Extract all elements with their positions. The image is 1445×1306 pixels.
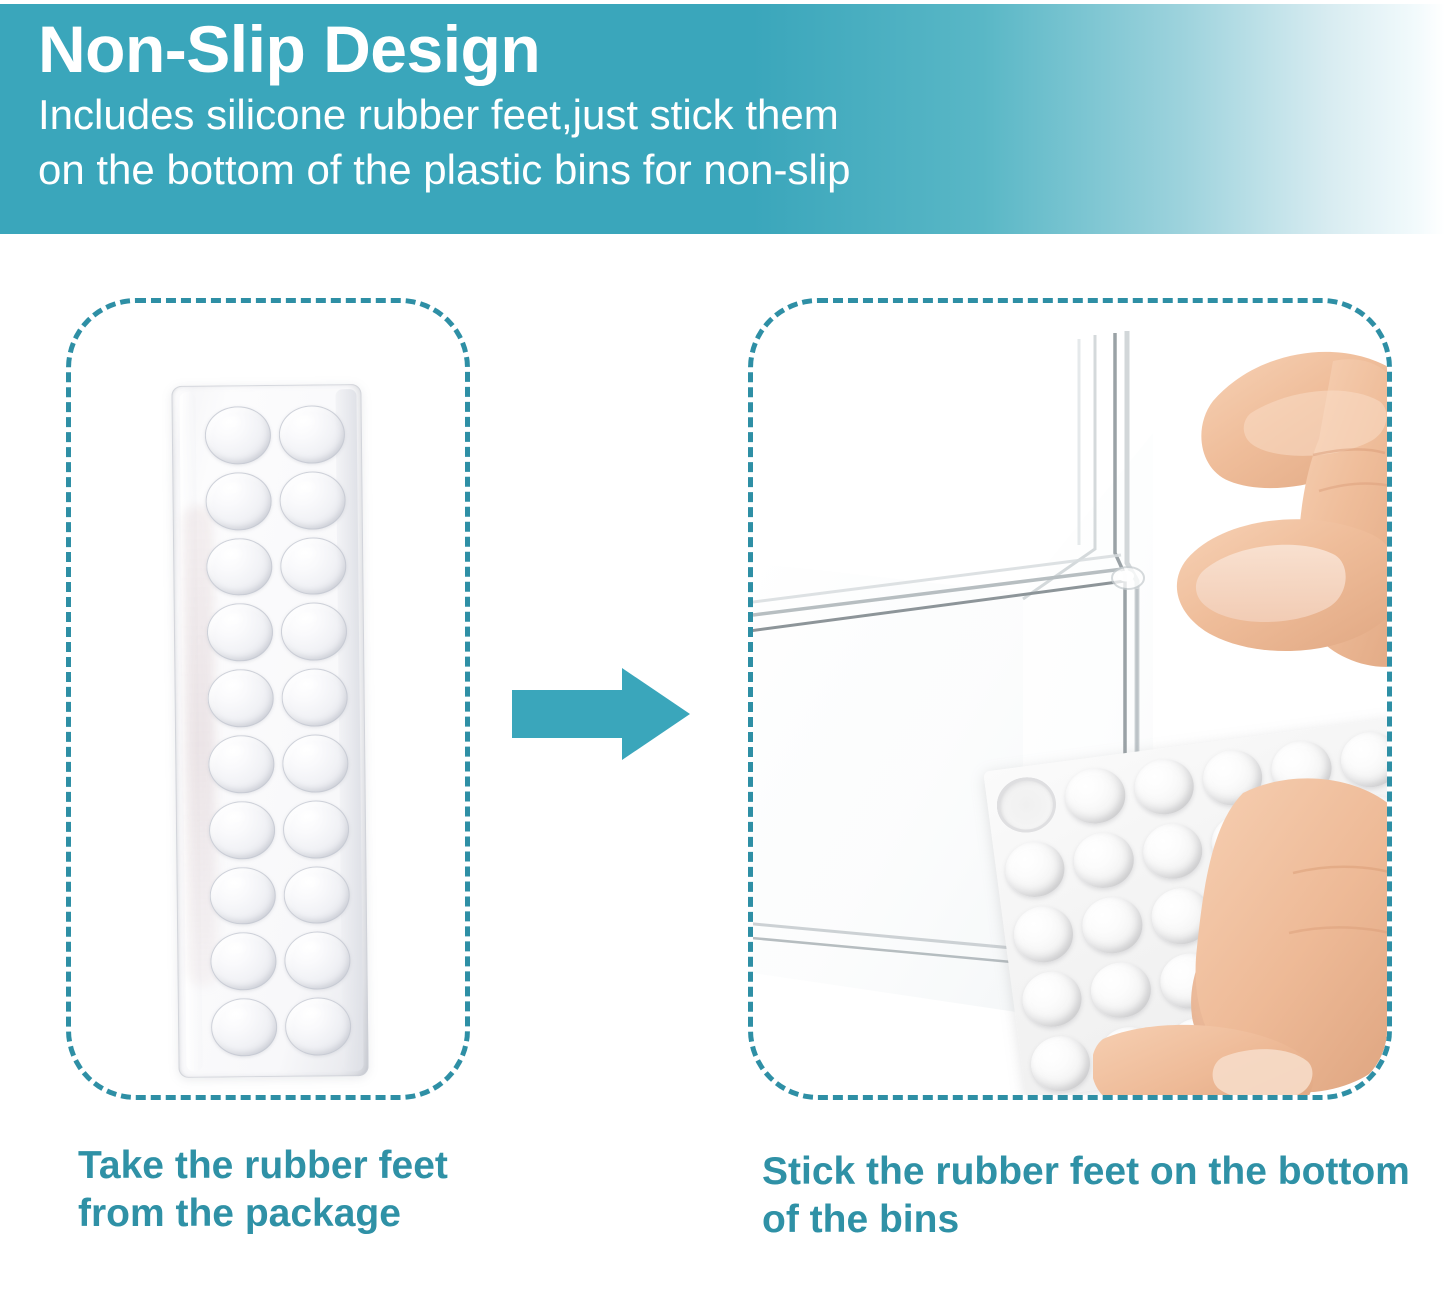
rubber-foot-bump — [207, 669, 274, 727]
step-1-caption: Take the rubber feet from the package — [78, 1142, 518, 1238]
rubber-foot-bump — [210, 932, 277, 990]
hand-holding-sheet — [1093, 733, 1387, 1095]
rubber-foot-bump — [282, 734, 349, 793]
arrow-right-icon — [512, 668, 690, 760]
rubber-foot-bump — [209, 867, 276, 925]
banner-subtitle-line-1: Includes silicone rubber feet,just stick… — [38, 89, 1445, 141]
rubber-foot-bump — [205, 472, 272, 530]
header-banner: Non-Slip Design Includes silicone rubber… — [0, 4, 1445, 234]
rubber-foot-bump — [281, 668, 348, 726]
rubber-foot-bump — [285, 997, 352, 1055]
silicone-strip-image — [171, 384, 368, 1078]
hand-sticking-feet-image — [753, 303, 1387, 1095]
rubber-foot-bump — [206, 538, 273, 596]
page-title: Non-Slip Design — [38, 12, 1445, 86]
strip-bump-grid — [200, 400, 357, 1062]
rubber-foot-bump-empty — [994, 774, 1060, 836]
rubber-foot-bump — [279, 405, 346, 463]
rubber-foot-bump — [280, 537, 347, 595]
step-1-image-panel — [66, 298, 470, 1100]
step-2-image-panel — [748, 298, 1392, 1100]
rubber-foot-bump — [205, 406, 272, 464]
rubber-foot-bump — [1002, 838, 1068, 900]
rubber-foot-bump — [279, 471, 346, 529]
rubber-foot-bump — [283, 866, 350, 924]
rubber-foot-bump — [208, 735, 275, 794]
step-2-caption: Stick the rubber feet on the bottom of t… — [762, 1148, 1412, 1244]
rubber-foot-bump — [211, 998, 278, 1056]
rubber-foot-bump — [1028, 1032, 1094, 1094]
hand-pressing-foot — [1083, 331, 1387, 711]
rubber-foot-bump — [207, 603, 274, 661]
rubber-foot-bump — [1019, 968, 1085, 1030]
rubber-foot-bump — [281, 603, 348, 661]
banner-subtitle-line-2: on the bottom of the plastic bins for no… — [38, 144, 1445, 196]
banner-text-block: Non-Slip Design Includes silicone rubber… — [38, 12, 1445, 196]
rubber-foot-bump — [209, 801, 276, 859]
rubber-foot-bump — [284, 932, 351, 990]
rubber-foot-bump — [283, 800, 350, 858]
rubber-foot-bump — [1011, 903, 1077, 965]
